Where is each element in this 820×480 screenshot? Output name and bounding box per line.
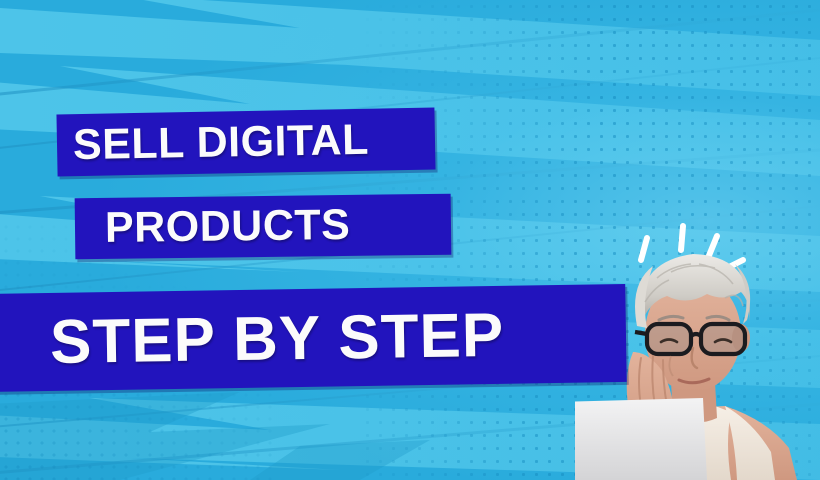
headline-band-2: PRODUCTS xyxy=(75,194,452,260)
headline-line-2: PRODUCTS xyxy=(105,201,351,253)
headline-group: SELL DIGITAL PRODUCTS STEP BY STEP xyxy=(0,0,820,480)
headline-line-3: STEP BY STEP xyxy=(49,299,504,377)
headline-band-3: STEP BY STEP xyxy=(0,284,627,392)
headline-band-1: SELL DIGITAL xyxy=(56,108,435,177)
youtube-thumbnail: SELL DIGITAL PRODUCTS STEP BY STEP xyxy=(0,0,820,480)
headline-line-1: SELL DIGITAL xyxy=(73,115,370,169)
